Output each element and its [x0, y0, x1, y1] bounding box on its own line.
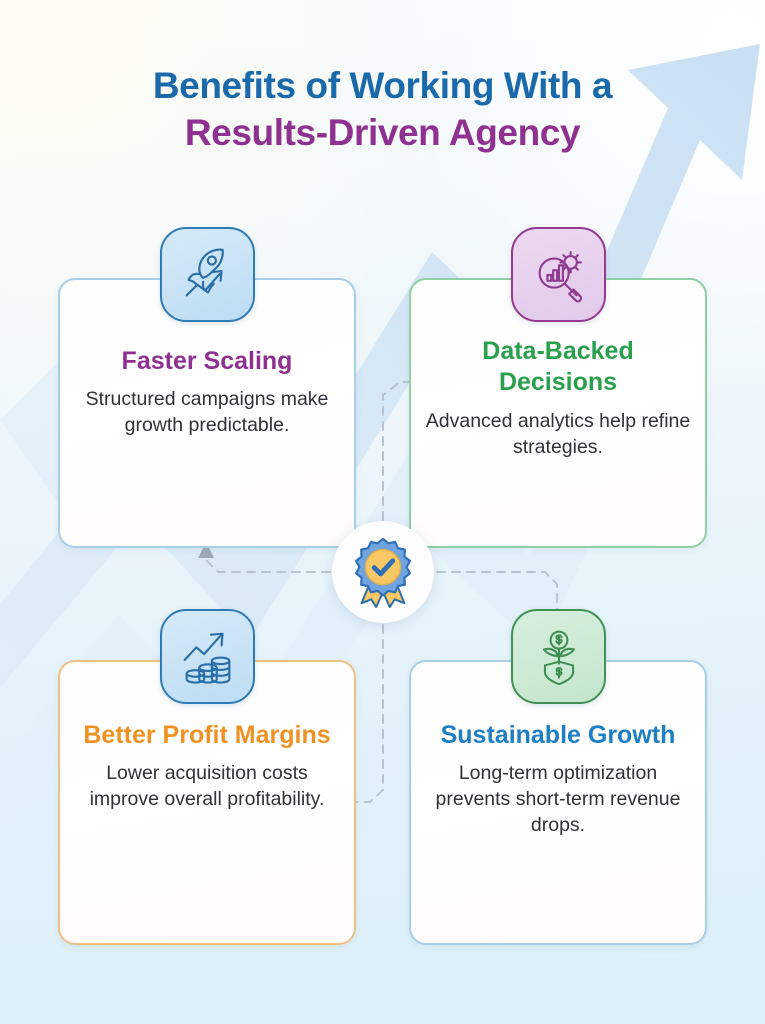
card-description: Long-term optimization prevents short-te… — [411, 760, 705, 838]
card-description: Structured campaigns make growth predict… — [60, 386, 354, 438]
award-ribbon-check-icon — [332, 521, 434, 623]
card-title: Data-Backed Decisions — [411, 336, 705, 397]
title-line-2: Results-Driven Agency — [0, 109, 765, 156]
card-description: Lower acquisition costs improve overall … — [60, 760, 354, 812]
connector-center-to-card1 — [206, 556, 330, 572]
rocket-growth-icon — [160, 227, 255, 322]
card-description: Advanced analytics help refine strategie… — [411, 408, 705, 460]
page-title: Benefits of Working With a Results-Drive… — [0, 62, 765, 157]
money-plant-shield-icon — [511, 609, 606, 704]
card-title: Faster Scaling — [112, 346, 303, 377]
title-line-1: Benefits of Working With a — [0, 62, 765, 109]
card-title: Better Profit Margins — [73, 720, 340, 751]
magnifier-bar-chart-gear-icon — [511, 227, 606, 322]
card-title: Sustainable Growth — [431, 720, 686, 751]
coins-growth-arrow-icon — [160, 609, 255, 704]
infographic-page: Benefits of Working With a Results-Drive… — [0, 0, 765, 1024]
